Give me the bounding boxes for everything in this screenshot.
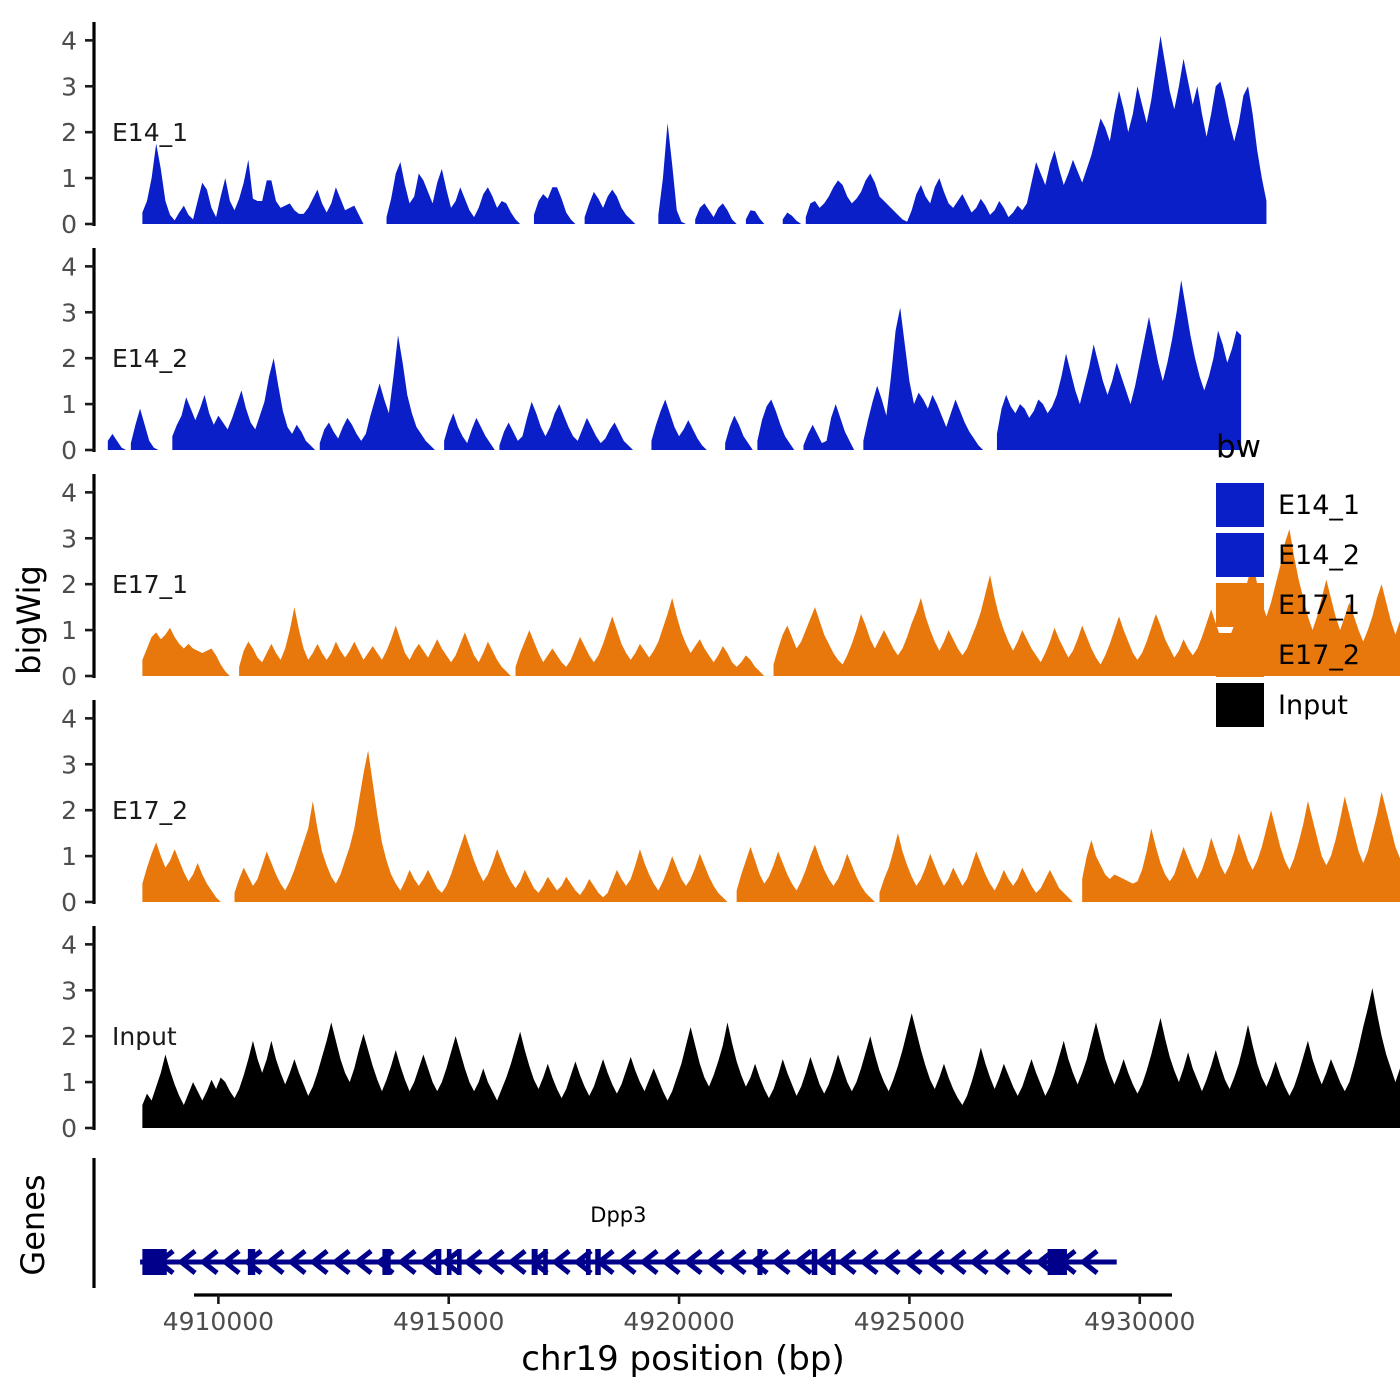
y-tick-label: 4 [61,26,77,55]
gene-exon-block[interactable] [757,1249,762,1275]
legend-swatch-e14_2[interactable] [1216,533,1264,577]
y-tick-label: 2 [61,796,77,825]
x-tick-label: 4915000 [393,1307,504,1336]
legend-label-input: Input [1278,690,1348,721]
track-label: E17_2 [112,796,188,825]
y-tick-label: 3 [61,72,77,101]
gene-exon-block[interactable] [595,1249,601,1275]
y-tick-label: 0 [61,888,77,917]
x-tick-label: 4910000 [163,1307,274,1336]
gene-exon-block[interactable] [457,1249,462,1275]
gene-exon-block[interactable] [142,1249,166,1275]
y-tick-label: 3 [61,976,77,1005]
y-tick-label: 4 [61,704,77,733]
y-axis-title: bigWig [10,565,48,675]
track-label: E14_2 [112,344,188,373]
y-tick-label: 2 [61,344,77,373]
legend-swatch-e17_2[interactable] [1216,633,1264,677]
x-axis-title: chr19 position (bp) [521,1339,844,1379]
legend-swatch-e17_1[interactable] [1216,583,1264,627]
figure-root: 01234E14_101234E14_201234E17_101234E17_2… [0,0,1400,1400]
y-tick-label: 1 [61,1068,77,1097]
gene-exon-block[interactable] [382,1249,390,1275]
y-tick-label: 4 [61,930,77,959]
x-tick-label: 4925000 [854,1307,965,1336]
x-tick-label: 4930000 [1084,1307,1195,1336]
legend-label-e14_2: E14_2 [1278,540,1360,571]
gene-exon-block[interactable] [812,1249,818,1275]
track-label: E14_1 [112,118,188,147]
y-tick-label: 3 [61,524,77,553]
track-label: Input [112,1022,177,1051]
legend-swatch-input[interactable] [1216,683,1264,727]
genome-browser-figure: 01234E14_101234E14_201234E17_101234E17_2… [0,0,1400,1400]
y-tick-label: 4 [61,478,77,507]
y-tick-label: 3 [61,298,77,327]
y-tick-label: 2 [61,118,77,147]
y-tick-label: 0 [61,436,77,465]
legend-label-e17_2: E17_2 [1278,640,1360,671]
y-tick-label: 0 [61,210,77,239]
y-tick-label: 0 [61,662,77,691]
y-tick-label: 1 [61,164,77,193]
legend-label-e17_1: E17_1 [1278,590,1360,621]
y-tick-label: 1 [61,842,77,871]
legend-title: bw [1216,429,1261,465]
y-tick-label: 1 [61,390,77,419]
gene-exon-block[interactable] [248,1249,255,1275]
gene-exon-block[interactable] [586,1249,591,1275]
legend-label-e14_1: E14_1 [1278,490,1360,521]
gene-exon-block[interactable] [1048,1249,1067,1275]
gene-name-label: Dpp3 [590,1203,646,1227]
genes-axis-title: Genes [14,1174,52,1275]
y-tick-label: 4 [61,252,77,281]
gene-exon-block[interactable] [831,1249,836,1275]
gene-exon-block[interactable] [436,1249,442,1275]
y-tick-label: 2 [61,1022,77,1051]
y-tick-label: 0 [61,1114,77,1143]
gene-exon-block[interactable] [532,1249,538,1275]
gene-exon-block[interactable] [543,1249,548,1275]
legend-swatch-e14_1[interactable] [1216,483,1264,527]
track-label: E17_1 [112,570,188,599]
y-tick-label: 1 [61,616,77,645]
gene-exon-block[interactable] [447,1249,452,1275]
y-tick-label: 3 [61,750,77,779]
y-tick-label: 2 [61,570,77,599]
x-tick-label: 4920000 [623,1307,734,1336]
